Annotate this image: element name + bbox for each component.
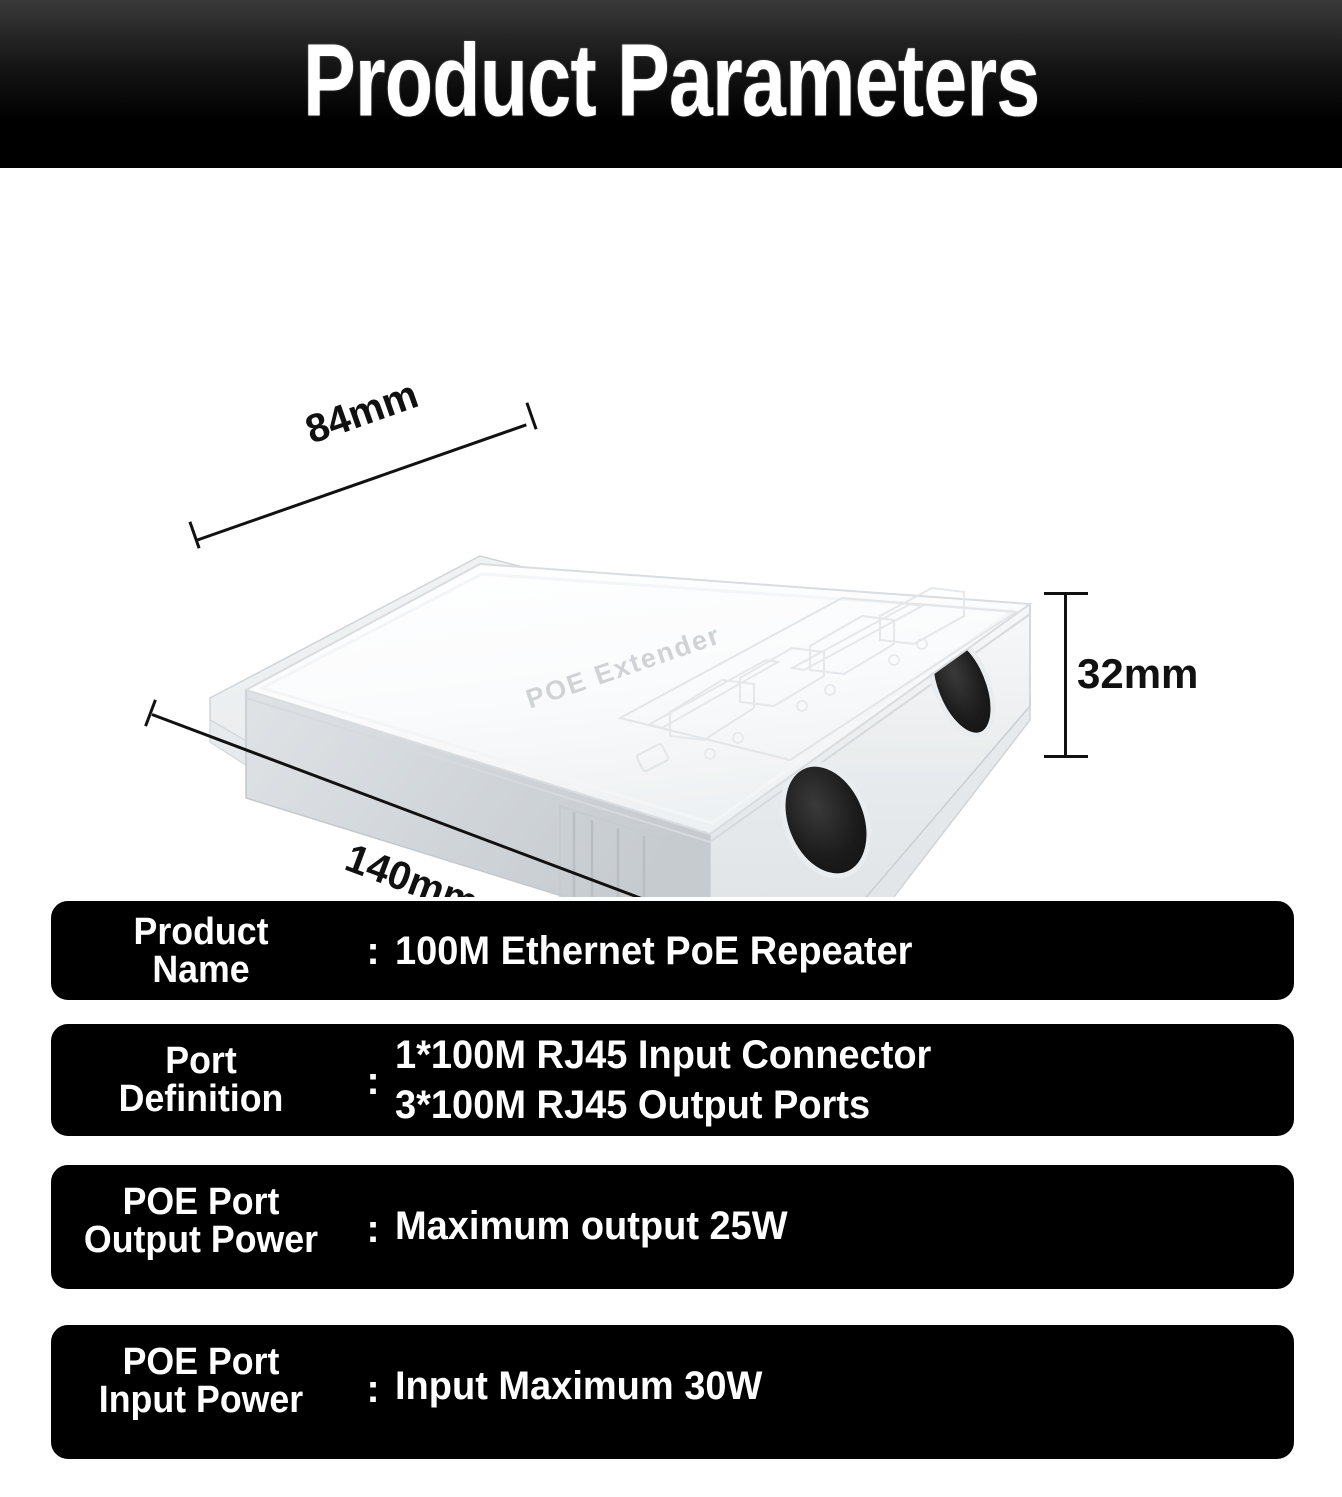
spec-value-port-definition: 1*100M RJ45 Input Connector 3*100M RJ45 … — [395, 1030, 931, 1130]
spec-label-line2: Output Power — [60, 1221, 342, 1259]
spec-value-line1: 1*100M RJ45 Input Connector — [395, 1033, 931, 1077]
spec-value-line1: Input Maximum 30W — [395, 1364, 762, 1408]
spec-label-line1: Product — [134, 911, 269, 953]
product-photo-area: POE Extender 84mm 140mm 32mm — [0, 168, 1342, 890]
spec-row-product-name: Product Name : 100M Ethernet PoE Repeate… — [48, 898, 1297, 1003]
dimension-line-height — [1064, 593, 1067, 758]
spec-row-port-definition: Port Definition : 1*100M RJ45 Input Conn… — [48, 1021, 1297, 1139]
spec-separator: : — [351, 1165, 395, 1249]
product-parameters-page: Product Parameters — [0, 0, 1342, 1497]
spec-separator: : — [351, 1059, 395, 1101]
spec-value-output-power: Maximum output 25W — [395, 1165, 788, 1251]
page-title: Product Parameters — [303, 29, 1039, 139]
spec-separator: : — [351, 931, 395, 971]
spec-value-line2: 3*100M RJ45 Output Ports — [395, 1080, 931, 1130]
dimension-tick-height-top — [1044, 592, 1088, 595]
spec-value-line1: Maximum output 25W — [395, 1204, 788, 1248]
spec-label-output-power: POE Port Output Power — [60, 1165, 342, 1259]
header-banner: Product Parameters — [0, 0, 1342, 168]
spec-label-input-power: POE Port Input Power — [60, 1325, 342, 1419]
spec-row-input-power: POE Port Input Power : Input Maximum 30W — [48, 1322, 1297, 1462]
spec-value-product-name: 100M Ethernet PoE Repeater — [395, 926, 912, 976]
spec-label-line2: Input Power — [60, 1381, 342, 1419]
spec-label-product-name: Product Name — [60, 913, 342, 989]
spec-label-line2: Name — [60, 951, 342, 989]
dimension-label-height: 32mm — [1077, 650, 1198, 698]
spec-value-input-power: Input Maximum 30W — [395, 1325, 762, 1411]
spec-row-output-power: POE Port Output Power : Maximum output 2… — [48, 1162, 1297, 1292]
spec-separator: : — [351, 1325, 395, 1409]
spec-label-port-definition: Port Definition — [60, 1042, 342, 1118]
dimension-tick-height-bottom — [1044, 755, 1088, 758]
spec-label-line1: Port — [165, 1040, 236, 1082]
specifications-table: Product Name : 100M Ethernet PoE Repeate… — [0, 890, 1342, 1497]
spec-label-line1: POE Port — [123, 1181, 280, 1223]
spec-label-line1: POE Port — [123, 1341, 280, 1383]
spec-label-line2: Definition — [60, 1080, 342, 1118]
spec-value-line1: 100M Ethernet PoE Repeater — [395, 929, 912, 973]
